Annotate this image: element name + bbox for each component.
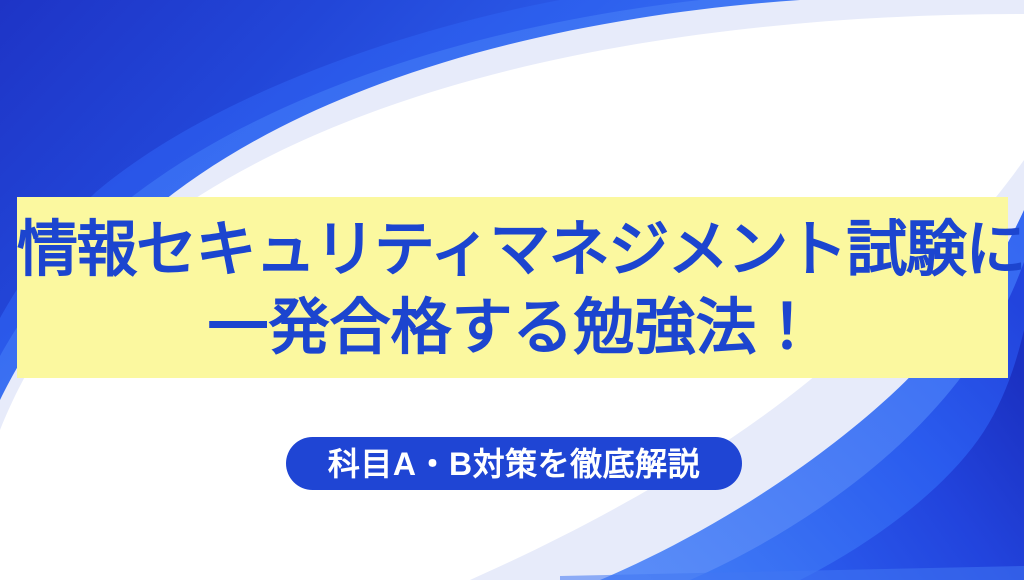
bottom-edge-strip (560, 566, 1024, 580)
headline-line-2: 一発合格する勉強法！ (17, 288, 1008, 366)
subtitle-pill-label: 科目A・B対策を徹底解説 (328, 448, 700, 480)
thumbnail-canvas: 情報セキュリティマネジメント試験に 一発合格する勉強法！ 科目A・B対策を徹底解… (0, 0, 1024, 580)
headline-highlight-band: 情報セキュリティマネジメント試験に 一発合格する勉強法！ (17, 197, 1008, 378)
subtitle-pill: 科目A・B対策を徹底解説 (286, 437, 742, 490)
headline-line-1: 情報セキュリティマネジメント試験に (17, 210, 1008, 288)
